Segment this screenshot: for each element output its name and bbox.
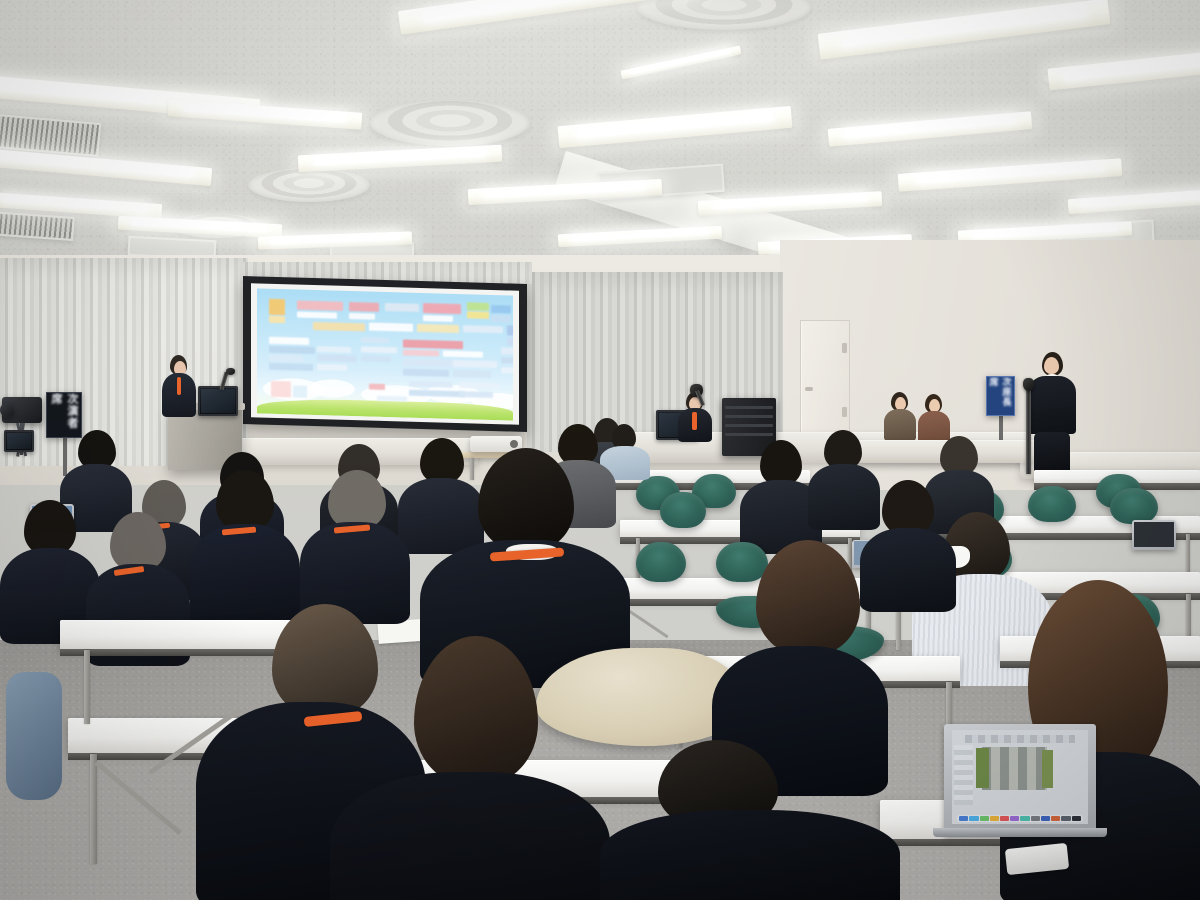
chair-empty[interactable] <box>1110 488 1158 524</box>
slide-text-block <box>361 355 391 362</box>
chair-empty[interactable] <box>660 492 706 528</box>
camera-lens <box>0 403 14 417</box>
slide-text-block <box>349 302 379 312</box>
slide-text-block <box>467 302 489 311</box>
slide-text-block <box>403 340 463 350</box>
slide-text-block <box>293 385 307 397</box>
slide-text-block <box>269 299 285 315</box>
slide-text-block <box>403 350 439 357</box>
slide-text-block <box>507 337 513 346</box>
attendee-head <box>756 540 860 656</box>
attendee-head <box>110 512 166 572</box>
slide-text-block <box>501 347 513 355</box>
session-chair <box>678 392 712 440</box>
backpack <box>6 672 62 800</box>
slide-text-block <box>403 369 449 377</box>
macos-dock[interactable] <box>957 815 1083 822</box>
questioner-torso <box>1028 376 1076 434</box>
podium-presenter <box>160 355 198 415</box>
attendee <box>300 470 410 620</box>
desk-leg <box>90 754 97 864</box>
slide-text-block <box>313 322 365 331</box>
slide-text-block <box>369 323 413 332</box>
hvac-vent <box>0 211 75 241</box>
slide-text-block <box>409 381 453 388</box>
rack-slot <box>725 433 773 436</box>
panelist-torso <box>884 409 916 441</box>
floor-mic-stand <box>1026 388 1031 474</box>
chair-lanyard <box>692 412 697 430</box>
next-chair-sign: 次座長席 <box>986 376 1015 416</box>
panelist <box>918 394 950 442</box>
macbook[interactable] <box>944 724 1096 836</box>
attendee <box>0 500 100 640</box>
slide-text-block <box>423 303 461 314</box>
slide-text-block <box>317 354 357 362</box>
slide-text-block <box>369 384 385 390</box>
slide-text-block <box>463 325 503 333</box>
slide-text-block <box>491 305 511 314</box>
conference-hall-photo: 次演者席 次座長席 <box>0 0 1200 900</box>
lectern-monitor <box>198 386 238 416</box>
slide-text-block <box>423 315 453 322</box>
slide-text-block <box>453 360 497 368</box>
attendee-foreground <box>600 740 900 900</box>
slide-text-block <box>417 324 459 333</box>
macbook-lid <box>944 724 1096 836</box>
exit-door[interactable] <box>800 320 850 448</box>
desk-leg <box>84 650 90 724</box>
door-hinge <box>842 343 847 353</box>
slide-text-block <box>507 325 513 336</box>
slide-text-block <box>385 303 419 312</box>
macbook-keyboard[interactable] <box>933 828 1106 837</box>
door-hinge <box>842 407 847 417</box>
slide-text-block <box>269 363 313 371</box>
laptop-lid <box>1132 520 1176 550</box>
chair-empty[interactable] <box>636 542 686 582</box>
attendee-head <box>216 470 274 532</box>
camera-monitor-screen <box>7 433 31 449</box>
rack-slot <box>725 424 773 427</box>
questioner-face <box>1044 357 1059 374</box>
macbook-screen <box>952 730 1089 824</box>
attendee-foreground <box>330 636 610 900</box>
slide-text-block <box>269 355 303 362</box>
slide-text-block <box>317 364 347 371</box>
slide-text-block <box>349 313 375 320</box>
attendee-torso <box>600 810 900 900</box>
slide-text-block <box>269 316 285 323</box>
slide-text-block <box>459 391 493 398</box>
presenter-lanyard <box>177 377 181 395</box>
pixelated-content <box>965 735 1074 743</box>
pixelated-content <box>982 747 1048 790</box>
screen-surface <box>251 283 519 424</box>
attendee-head <box>478 448 574 552</box>
slide-text-block <box>443 351 483 358</box>
slide-text-block <box>361 346 397 353</box>
projector-lens <box>510 440 518 448</box>
air-diffuser <box>370 100 530 146</box>
air-diffuser <box>248 168 370 202</box>
slide-text-block <box>403 359 459 368</box>
camera-field-monitor <box>4 430 34 452</box>
attendee-torso <box>330 772 610 900</box>
sidebar-panel <box>954 745 973 805</box>
rack-slot <box>725 415 773 418</box>
rack-slot <box>725 406 773 409</box>
lectern-mic-head <box>226 368 235 375</box>
slide-content <box>257 288 513 420</box>
slide-text-block <box>361 337 389 343</box>
attendee-head <box>328 470 386 530</box>
door-knob[interactable] <box>805 387 813 391</box>
pixelated-content <box>1042 750 1053 788</box>
slide-text-block <box>467 311 489 319</box>
slide-text-block <box>269 337 309 345</box>
slide-text-block <box>317 346 351 353</box>
lectern-monitor-screen <box>201 389 235 413</box>
next-chair-sign-text: 次座長席 <box>988 377 1014 415</box>
floor-mic-head <box>1023 378 1034 391</box>
panelist <box>884 392 916 440</box>
slide-text-block <box>501 357 513 364</box>
slide-text-block <box>501 367 513 374</box>
laptop-screen <box>1134 522 1174 547</box>
slide-text-block <box>377 396 407 402</box>
attendee-head <box>414 636 538 786</box>
slide-text-block <box>271 381 291 398</box>
slide-text-block <box>459 382 499 389</box>
projection-screen <box>243 276 527 432</box>
slide-text-block <box>297 301 343 311</box>
slide-text-block <box>297 312 337 319</box>
pixelated-content <box>976 748 988 788</box>
slide-text-block <box>453 370 491 378</box>
slide-text-block <box>491 315 511 323</box>
slide-text-block <box>269 346 315 354</box>
attendee-laptop[interactable] <box>1132 520 1176 550</box>
